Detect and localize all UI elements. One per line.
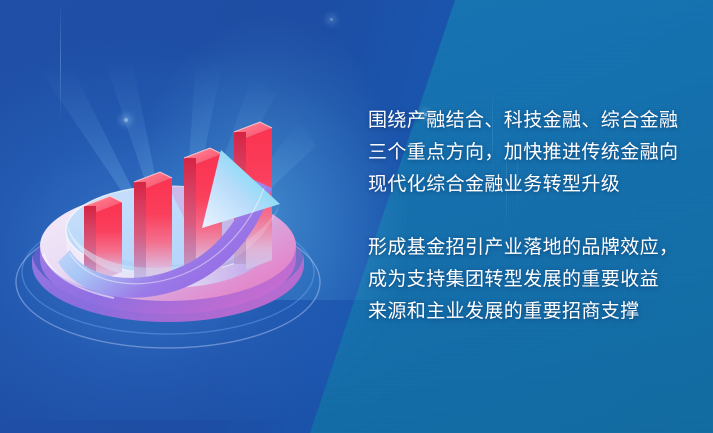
promo-banner: 围绕产融结合、科技金融、综合金融 三个重点方向，加快推进传统金融向 现代化综合金… <box>0 0 713 433</box>
bar-2 <box>134 172 172 282</box>
paragraph-outcome: 形成基金招引产业落地的品牌效应， 成为支持集团转型发展的重要收益 来源和主业发展… <box>368 232 678 328</box>
copy-block: 围绕产融结合、科技金融、综合金融 三个重点方向，加快推进传统金融向 现代化综合金… <box>368 0 698 433</box>
growth-chart-illustration <box>18 96 318 346</box>
paragraph-strategy: 围绕产融结合、科技金融、综合金融 三个重点方向，加快推进传统金融向 现代化综合金… <box>368 105 678 201</box>
